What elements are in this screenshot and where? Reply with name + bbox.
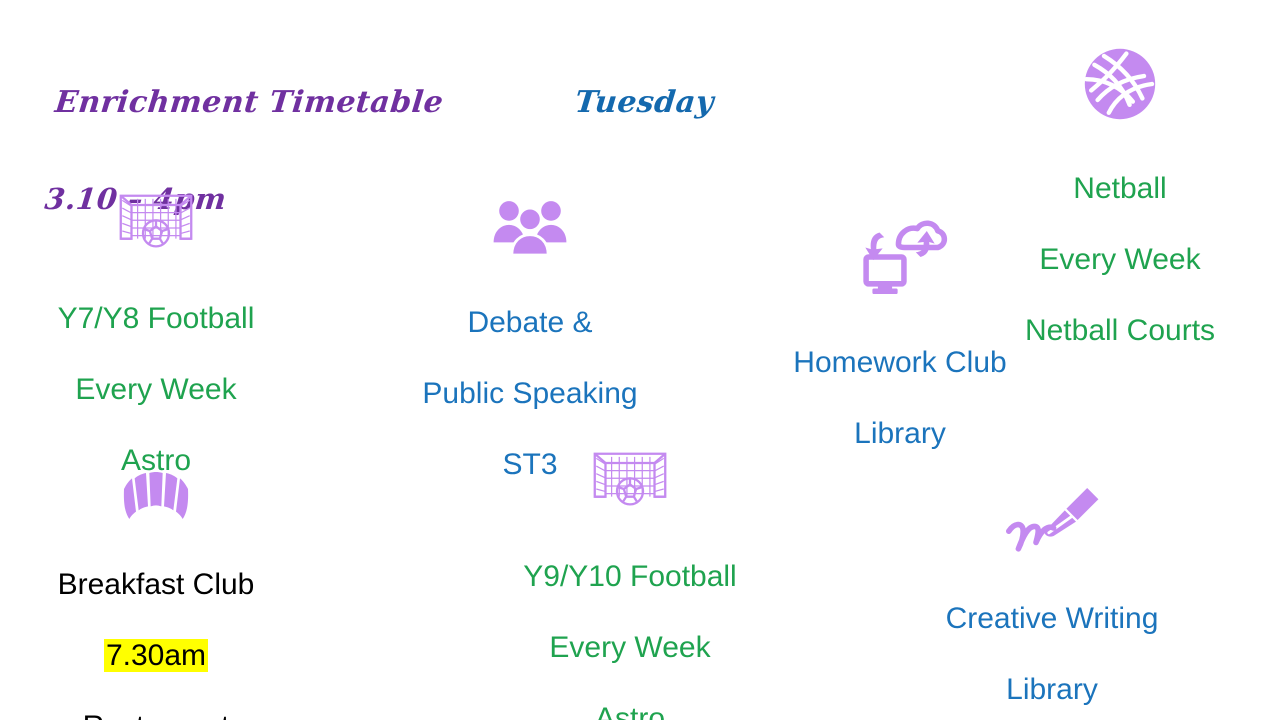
activity-card-y9y10-football[interactable]: Y9/Y10 Football Every Week Astro (470, 440, 790, 720)
page-title-line1: Enrichment Timetable (53, 87, 445, 119)
activity-location: Astro (470, 701, 790, 720)
activity-card-y7y8-football[interactable]: Y7/Y8 Football Every Week Astro (0, 182, 316, 515)
activity-card-breakfast-club[interactable]: Breakfast Club 7.30am Restaurant (0, 470, 316, 720)
activity-name: Netball (960, 171, 1280, 207)
activity-frequency: Every Week (470, 630, 790, 666)
activity-time-highlight: 7.30am (104, 639, 208, 672)
slide-canvas: Enrichment Timetable 3.10 – 4pm Tuesday … (0, 0, 1280, 720)
activity-frequency: Every Week (0, 372, 316, 408)
activity-time-row: 7.30am (0, 638, 316, 674)
activity-text-creative-writing: Creative Writing Library (892, 565, 1212, 720)
activity-card-creative-writing[interactable]: Creative Writing Library (892, 486, 1212, 720)
people-group-icon (370, 196, 690, 263)
activity-location: Library (892, 672, 1212, 708)
croissant-icon (0, 470, 316, 525)
netball-ball-icon (960, 44, 1280, 129)
day-heading: Tuesday (573, 87, 715, 119)
cloud-computer-icon (740, 216, 1060, 303)
football-goal-icon (470, 440, 790, 517)
activity-name: Y9/Y10 Football (470, 559, 790, 595)
activity-text-y9y10-football: Y9/Y10 Football Every Week Astro (470, 523, 790, 720)
activity-name: Breakfast Club (0, 567, 316, 603)
activity-name: Debate & (370, 305, 690, 341)
fountain-pen-icon (892, 486, 1212, 559)
activity-frequency: Public Speaking (370, 376, 690, 412)
activity-text-breakfast-club: Breakfast Club 7.30am Restaurant (0, 531, 316, 720)
activity-name: Y7/Y8 Football (0, 301, 316, 337)
activity-name: Homework Club (740, 345, 1060, 381)
activity-location: Restaurant (0, 709, 316, 720)
activity-name: Creative Writing (892, 601, 1212, 637)
football-goal-icon (0, 182, 316, 259)
